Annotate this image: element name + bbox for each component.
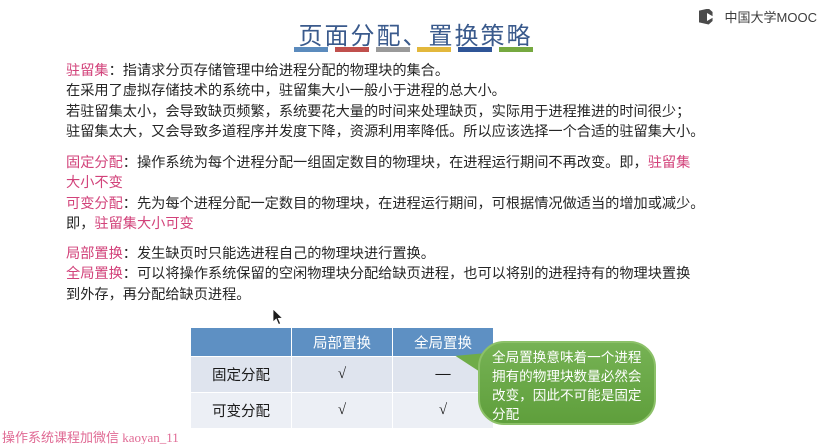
text-line: 可变分配：先为每个进程分配一定数目的物理块，在进程运行期间，可根据情况做适当的增… [66, 194, 704, 214]
body-text: 在采用了虚拟存储技术的系统中，驻留集大小一般小于进程的总大小。 [66, 83, 506, 99]
table-row: 可变分配 √ √ [191, 393, 494, 429]
mouse-cursor-icon [273, 309, 285, 327]
callout-note: 全局置换意味着一个进程拥有的物理块数量必然会改变，因此不可能是固定分配 [478, 341, 656, 425]
table-row: 固定分配 √ — [191, 357, 494, 393]
body-text: 驻留集太大，又会导致多道程序并发度下降，资源利用率降低。所以应该选择一个合适的驻… [66, 124, 704, 140]
keyword-text: 可变分配 [66, 196, 123, 212]
body-text: ：指请求分页存储管理中给进程分配的物理块的集合。 [109, 63, 450, 79]
body-text: ：可以将操作系统保留的空闲物理块分配给缺页进程，也可以将别的进程持有的物理块置换 [123, 266, 691, 282]
comparison-table: 局部置换 全局置换 固定分配 √ — 可变分配 √ √ [190, 327, 494, 429]
body-text: ：发生缺页时只能选进程自己的物理块进行置换。 [123, 246, 435, 262]
text-line: 局部置换：发生缺页时只能选进程自己的物理块进行置换。 [66, 244, 690, 264]
keyword-text: 大小不变 [66, 175, 123, 191]
keyword-text: 全局置换 [66, 266, 123, 282]
table-corner-cell [191, 328, 292, 357]
text-line: 若驻留集太小，会导致缺页频繁，系统要花大量的时间来处理缺页，实际用于进程推进的时… [66, 102, 704, 122]
page-title: 页面分配、置换策略 [0, 16, 831, 51]
keyword-text: 固定分配 [66, 155, 123, 171]
text-line: 驻留集太大，又会导致多道程序并发度下降，资源利用率降低。所以应该选择一个合适的驻… [66, 122, 704, 142]
table-header-row: 局部置换 全局置换 [191, 328, 494, 357]
body-text: ：操作系统为每个进程分配一组固定数目的物理块，在进程运行期间不再改变。即， [123, 155, 648, 171]
text-line: 在采用了虚拟存储技术的系统中，驻留集大小一般小于进程的总大小。 [66, 81, 704, 101]
table-row-label-0: 固定分配 [191, 357, 292, 393]
footer-note: 操作系统课程加微信 kaoyan_11 [2, 427, 179, 444]
title-bar-2 [376, 47, 410, 52]
body-text: ：先为每个进程分配一定数目的物理块，在进程运行期间，可根据情况做适当的增加或减少… [123, 196, 705, 212]
keyword-text: 驻留集 [66, 63, 109, 79]
text-line: 大小不变 [66, 173, 704, 193]
table-head: 局部置换 全局置换 [191, 328, 494, 357]
text-line: 到外存，再分配给缺页进程。 [66, 285, 690, 305]
paragraph-replacement: 局部置换：发生缺页时只能选进程自己的物理块进行置换。全局置换：可以将操作系统保留… [66, 244, 690, 305]
text-line: 驻留集：指请求分页存储管理中给进程分配的物理块的集合。 [66, 61, 704, 81]
title-bar-5 [499, 47, 533, 52]
slide-canvas: 中国大学MOOC 页面分配、置换策略 驻留集：指请求分页存储管理中给进程分配的物… [0, 0, 831, 444]
keyword-text: 局部置换 [66, 246, 123, 262]
body-text: 若驻留集太小，会导致缺页频繁，系统要花大量的时间来处理缺页，实际用于进程推进的时… [66, 104, 690, 120]
keyword-text: 驻留集 [648, 155, 691, 171]
body-text: 即， [66, 216, 94, 232]
title-bar-3 [417, 47, 451, 52]
table-cell-0-0: √ [292, 357, 393, 393]
title-bar-1 [335, 47, 369, 52]
text-line: 即，驻留集大小可变 [66, 214, 704, 234]
title-bar-4 [458, 47, 492, 52]
body-text: 到外存，再分配给缺页进程。 [66, 287, 250, 303]
title-decoration-bars [294, 47, 533, 52]
text-line: 全局置换：可以将操作系统保留的空闲物理块分配给缺页进程，也可以将别的进程持有的物… [66, 264, 690, 284]
keyword-text: 驻留集大小可变 [94, 216, 193, 232]
text-line: 固定分配：操作系统为每个进程分配一组固定数目的物理块，在进程运行期间不再改变。即… [66, 153, 704, 173]
title-bar-0 [294, 47, 328, 52]
table-cell-1-0: √ [292, 393, 393, 429]
table-body: 固定分配 √ — 可变分配 √ √ [191, 357, 494, 429]
table-row-label-1: 可变分配 [191, 393, 292, 429]
table-col-header-0: 局部置换 [292, 328, 393, 357]
paragraph-allocation: 固定分配：操作系统为每个进程分配一组固定数目的物理块，在进程运行期间不再改变。即… [66, 153, 704, 234]
paragraph-resident-set: 驻留集：指请求分页存储管理中给进程分配的物理块的集合。在采用了虚拟存储技术的系统… [66, 61, 704, 142]
